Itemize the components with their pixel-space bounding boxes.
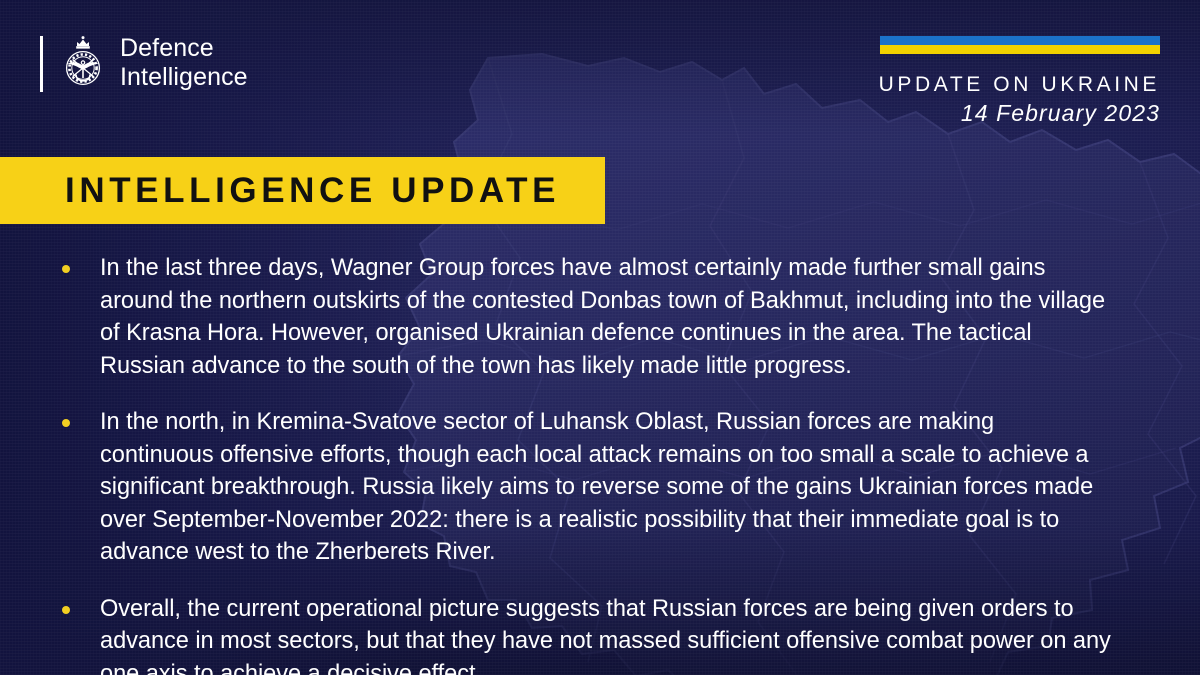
- list-item: In the last three days, Wagner Group for…: [62, 252, 1148, 382]
- bullet-paragraph: Overall, the current operational picture…: [100, 593, 1112, 675]
- intelligence-update-banner: INTELLIGENCE UPDATE: [0, 157, 605, 224]
- bullet-dot-icon: [62, 606, 70, 614]
- brand-title: Defence Intelligence: [120, 33, 248, 92]
- bullet-paragraph: In the north, in Kremina-Svatove sector …: [100, 406, 1112, 569]
- flag-yellow-stripe: [880, 45, 1160, 54]
- bullet-paragraph: In the last three days, Wagner Group for…: [100, 252, 1112, 382]
- list-item: Overall, the current operational picture…: [62, 593, 1148, 675]
- vertical-rule-icon: [40, 36, 43, 92]
- update-title: UPDATE ON UKRAINE: [879, 72, 1160, 98]
- bullet-dot-icon: [62, 419, 70, 427]
- bullet-dot-icon: [62, 265, 70, 273]
- brand-title-line1: Defence: [120, 34, 248, 63]
- header: Defence Intelligence UPDATE ON UKRAINE 1…: [0, 0, 1200, 150]
- flag-blue-stripe: [880, 36, 1160, 45]
- update-header-block: UPDATE ON UKRAINE 14 February 2023: [879, 36, 1160, 128]
- intelligence-update-poster: Defence Intelligence UPDATE ON UKRAINE 1…: [0, 0, 1200, 675]
- mod-crest-icon: [58, 33, 108, 91]
- brand-title-line2: Intelligence: [120, 63, 248, 92]
- update-date: 14 February 2023: [879, 98, 1160, 128]
- banner-title: INTELLIGENCE UPDATE: [0, 171, 560, 211]
- brand-lockup: Defence Intelligence: [40, 33, 248, 92]
- ukraine-flag-bar-icon: [880, 36, 1160, 54]
- list-item: In the north, in Kremina-Svatove sector …: [62, 406, 1148, 569]
- bullet-list: In the last three days, Wagner Group for…: [62, 252, 1148, 675]
